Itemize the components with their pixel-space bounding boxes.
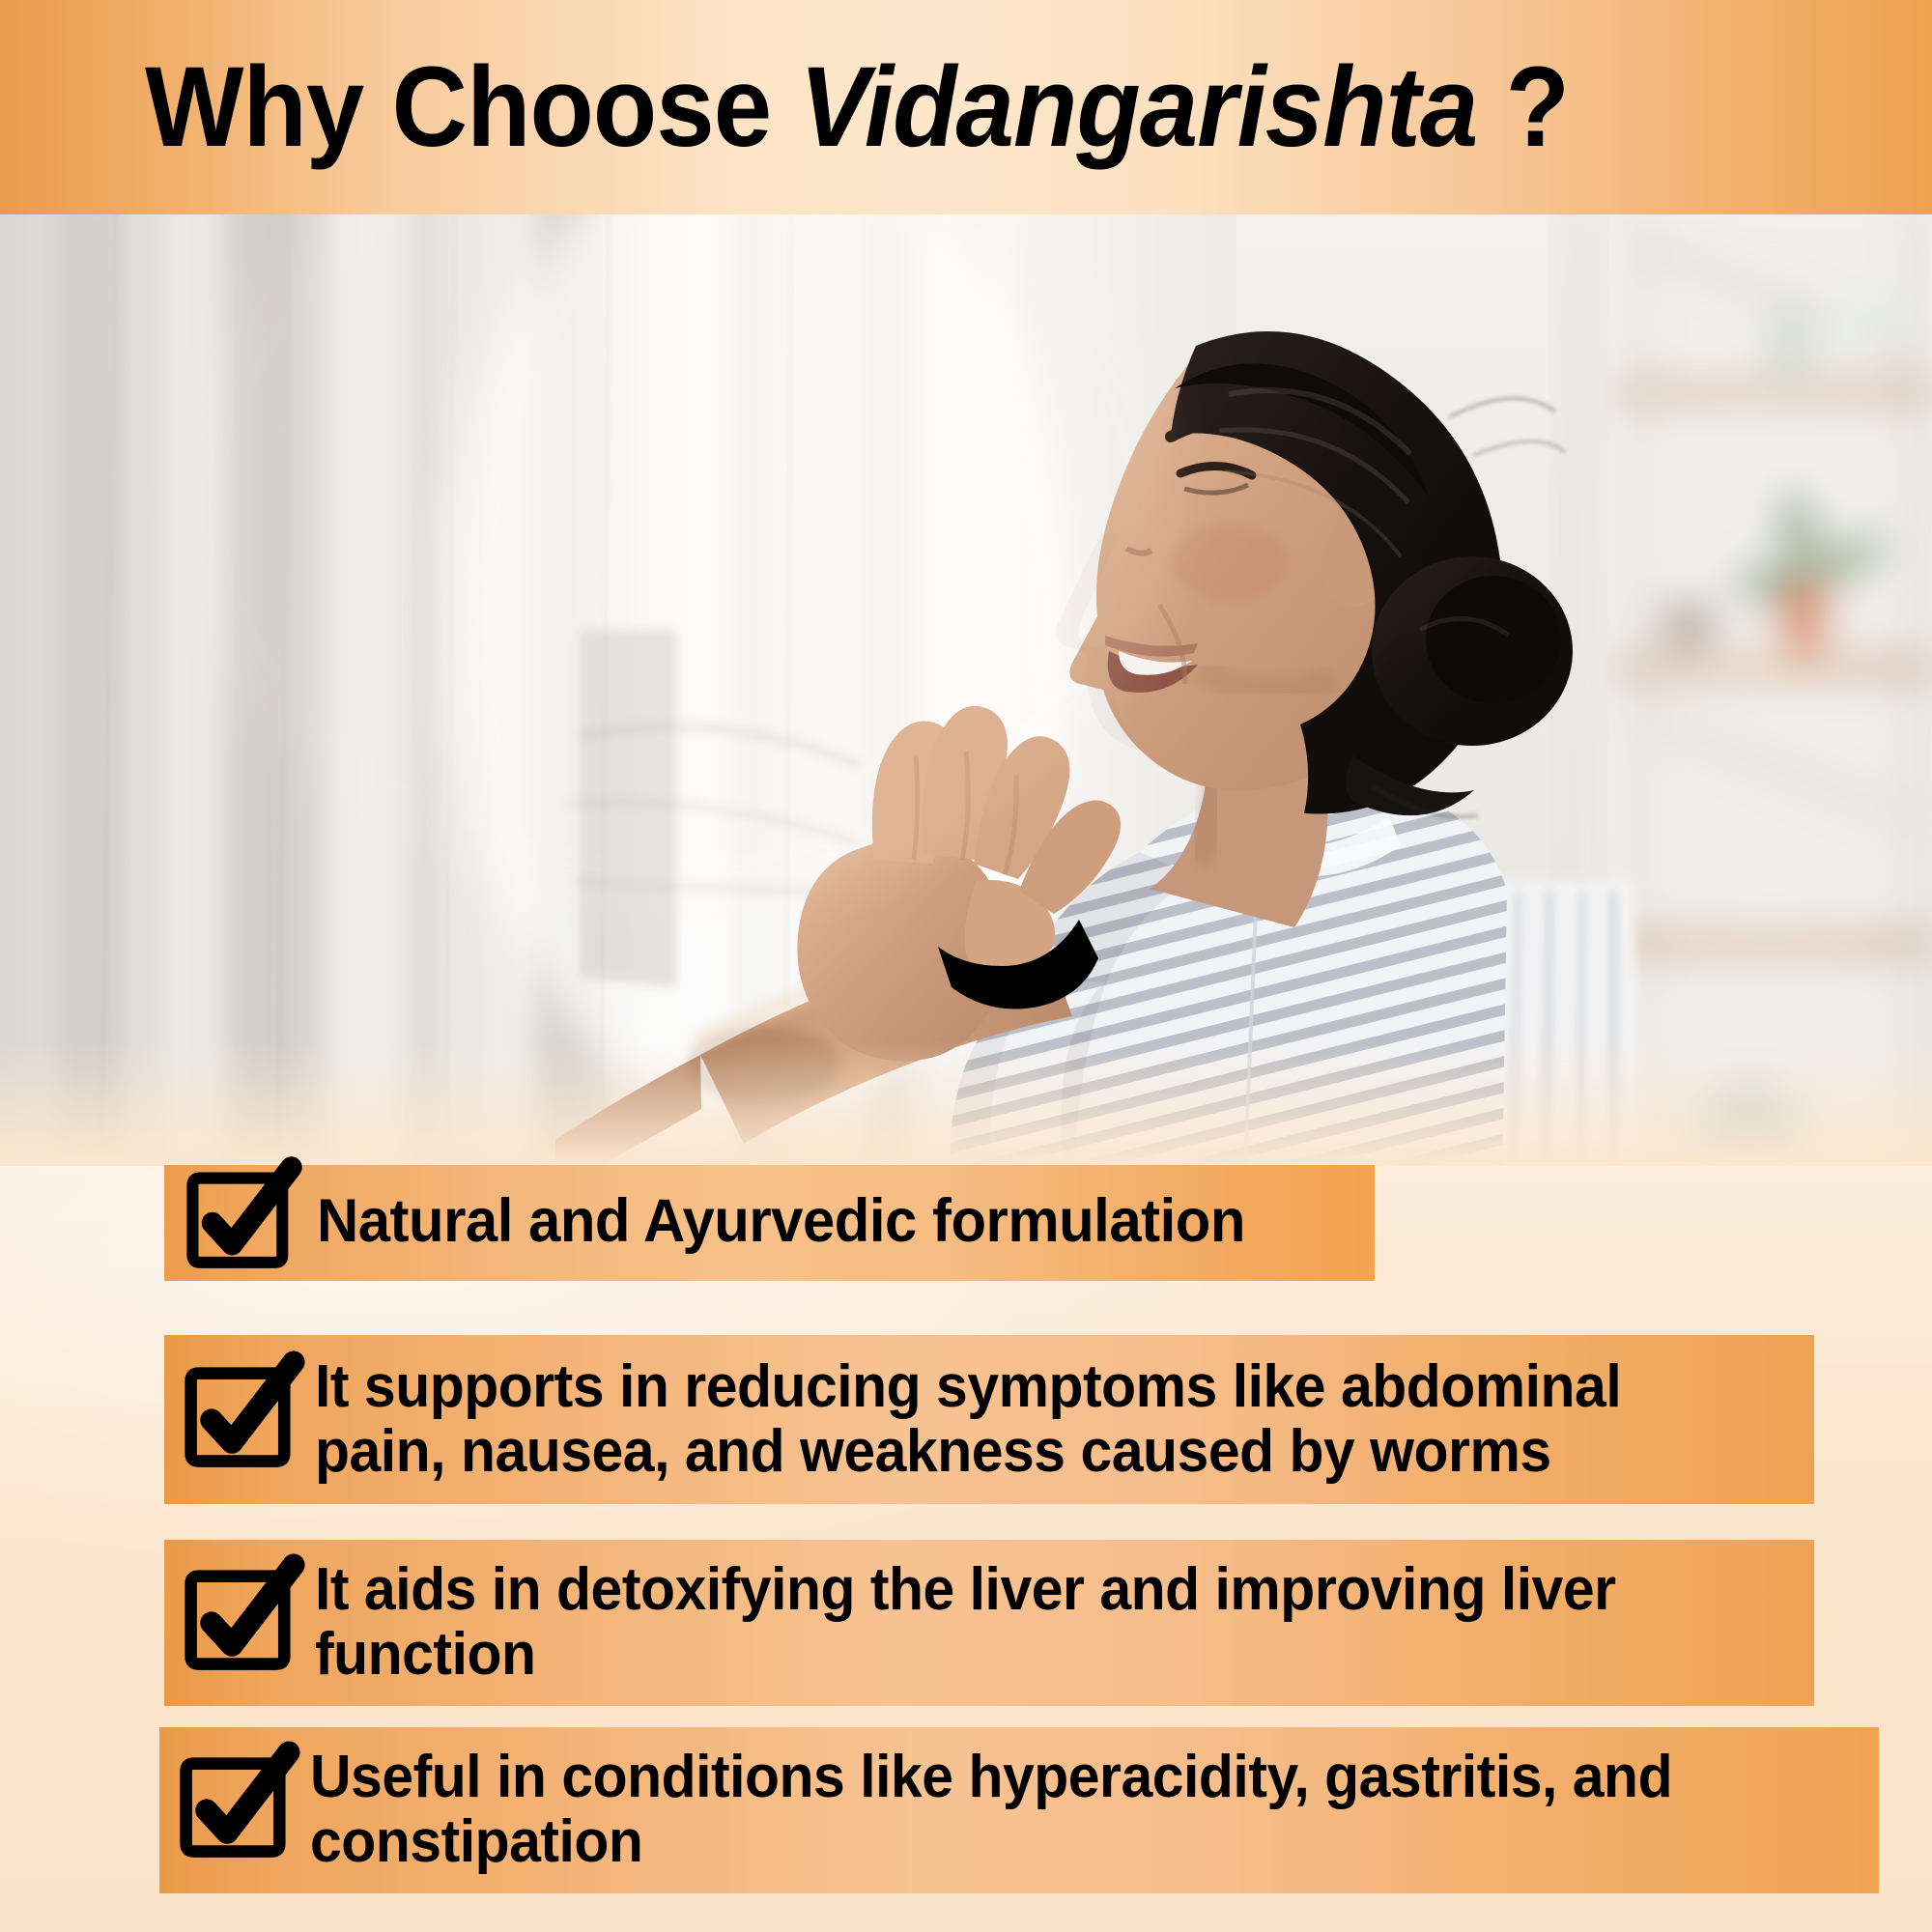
hero-photo-illustration bbox=[0, 214, 1932, 1166]
hero-photo bbox=[0, 214, 1932, 1166]
page-title: Why Choose Vidangarishta ? bbox=[145, 50, 1569, 164]
title-suffix: ? bbox=[1477, 43, 1569, 171]
promotional-poster: Why Choose Vidangarishta ? bbox=[0, 0, 1932, 1932]
benefit-text-4: Useful in conditions like hyperacidity, … bbox=[310, 1746, 1715, 1875]
benefit-text-2: It supports in reducing symptoms like ab… bbox=[315, 1355, 1719, 1485]
benefit-item-1[interactable]: Natural and Ayurvedic formulation bbox=[164, 1165, 1375, 1281]
header-banner: Why Choose Vidangarishta ? bbox=[0, 0, 1932, 214]
checkbox-checked-icon bbox=[180, 1567, 292, 1679]
benefit-item-4[interactable]: Useful in conditions like hyperacidity, … bbox=[159, 1727, 1879, 1893]
brand-name: Vidangarishta bbox=[799, 43, 1477, 171]
title-prefix: Why Choose bbox=[145, 43, 799, 171]
benefit-item-2[interactable]: It supports in reducing symptoms like ab… bbox=[164, 1335, 1814, 1504]
checkbox-checked-icon bbox=[180, 1364, 292, 1476]
checkbox-checked-icon bbox=[182, 1173, 290, 1273]
benefit-item-3[interactable]: It aids in detoxifying the liver and imp… bbox=[164, 1540, 1814, 1706]
benefit-text-3: It aids in detoxifying the liver and imp… bbox=[315, 1558, 1719, 1688]
checkbox-checked-icon bbox=[175, 1754, 287, 1866]
benefit-text-1: Natural and Ayurvedic formulation bbox=[317, 1188, 1245, 1258]
